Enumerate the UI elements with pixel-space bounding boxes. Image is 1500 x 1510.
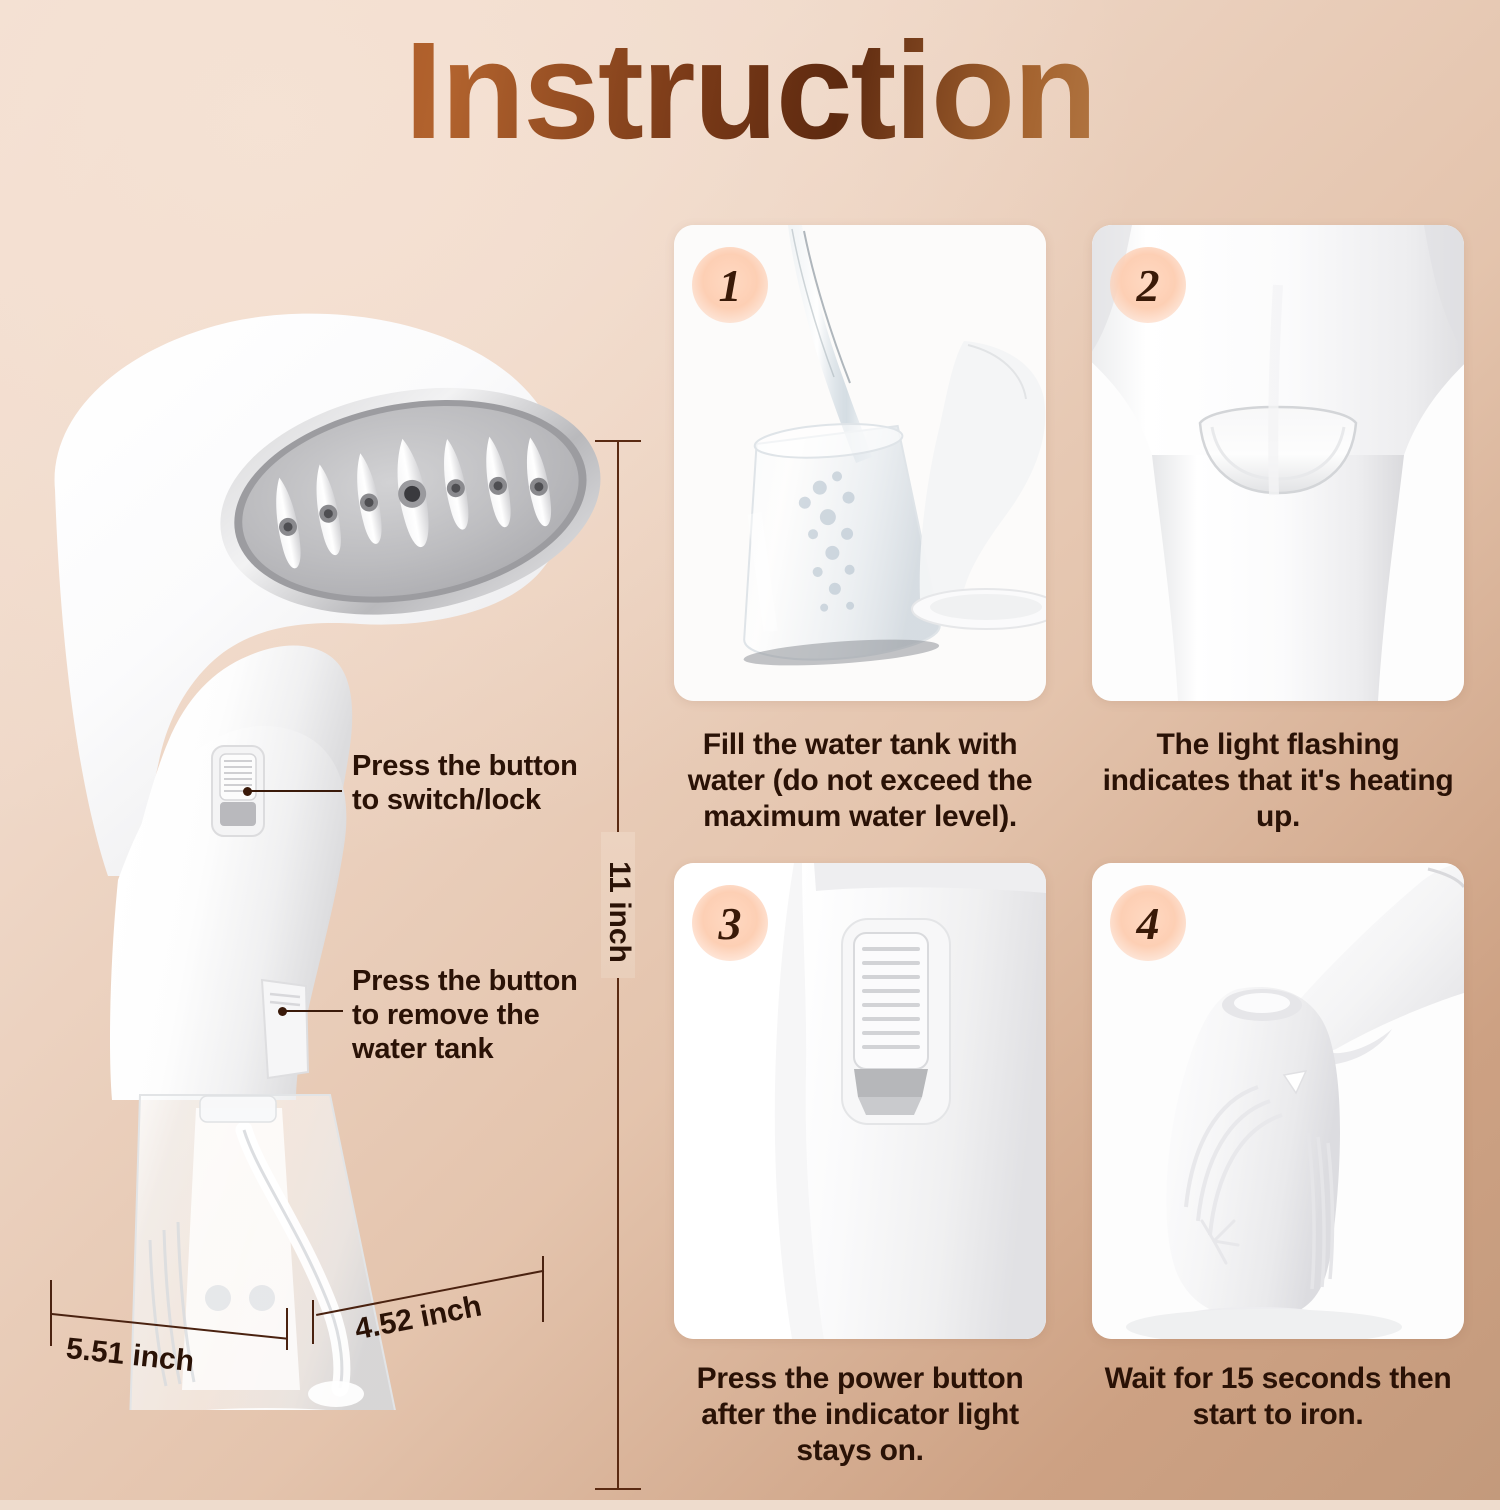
step-photo-4: 4 (1092, 863, 1464, 1339)
callout-line-remove-tank (285, 1010, 343, 1012)
dimension-width: 5.51 inch (50, 1280, 300, 1390)
step-badge-1: 1 (692, 247, 768, 323)
step-photo-1: 1 (674, 225, 1046, 701)
step-badge-4: 4 (1110, 885, 1186, 961)
step-photo-3: 3 (674, 863, 1046, 1339)
dimension-width-label: 5.51 inch (64, 1332, 195, 1379)
step-badge-2: 2 (1110, 247, 1186, 323)
tank-release-button (262, 980, 308, 1078)
callout-switch-lock: Press the button to switch/lock (352, 750, 582, 818)
step-badge-3: 3 (692, 885, 768, 961)
step-caption-2: The light flashing indicates that it's h… (1092, 727, 1464, 835)
step-caption-1: Fill the water tank with water (do not e… (674, 727, 1046, 835)
dimension-height: 11 inch (595, 420, 641, 1510)
dimension-depth-tick-right (542, 1256, 544, 1322)
instruction-infographic: Instruction (0, 0, 1500, 1500)
product-illustration: Press the button to switch/lock Press th… (0, 190, 640, 1410)
step-caption-4: Wait for 15 seconds then start to iron. (1092, 1361, 1464, 1433)
dimension-height-label: 11 inch (602, 842, 636, 982)
callout-remove-tank: Press the button to remove the water tan… (352, 965, 582, 1067)
step-card-4: 4 Wait for 15 seconds then start to iron… (1092, 863, 1464, 1433)
page-title: Instruction (0, 22, 1500, 160)
dimension-depth-label: 4.52 inch (352, 1289, 485, 1347)
dimension-depth: 4.52 inch (312, 1256, 572, 1366)
step-card-2: 2 The light flashing indicates that it's… (1092, 225, 1464, 835)
step-photo-2: 2 (1092, 225, 1464, 701)
dimension-width-tick-right (286, 1308, 288, 1350)
steps-grid: 1 Fill the water tank with water (do not… (674, 225, 1464, 1470)
dimension-depth-tick-left (312, 1300, 314, 1344)
step-card-1: 1 Fill the water tank with water (do not… (674, 225, 1046, 835)
step-card-3: 3 Press the power button after the indic… (674, 863, 1046, 1469)
callout-line-switch-lock (250, 790, 342, 792)
step-caption-3: Press the power button after the indicat… (674, 1361, 1046, 1469)
